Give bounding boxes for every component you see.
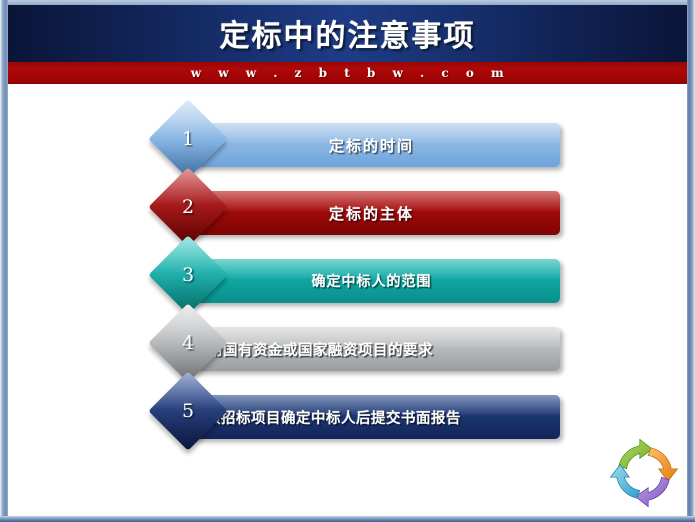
step-number-4: 4 bbox=[160, 315, 216, 371]
content-area: 定标的时间 1 定标的主体 2 确定中标人的范围 bbox=[8, 84, 687, 516]
list-item[interactable]: 必须招标项目确定中标人后提交书面报告 5 bbox=[8, 383, 687, 451]
step-number-3: 3 bbox=[160, 247, 216, 303]
step-label-5: 必须招标项目确定中标人后提交书面报告 bbox=[183, 395, 560, 439]
website-bar: w w w . z b t b w . c o m bbox=[8, 62, 687, 84]
step-label-1: 定标的时间 bbox=[183, 123, 560, 167]
step-bar-5[interactable]: 必须招标项目确定中标人后提交书面报告 bbox=[183, 395, 560, 439]
step-label-3: 确定中标人的范围 bbox=[183, 259, 560, 303]
step-bar-2[interactable]: 定标的主体 bbox=[183, 191, 560, 235]
step-label-2: 定标的主体 bbox=[183, 191, 560, 235]
recycle-cycle-logo bbox=[607, 438, 681, 508]
page-title: 定标中的注意事项 bbox=[8, 5, 687, 62]
list-item[interactable]: 使用国有资金或国家融资项目的要求 4 bbox=[8, 315, 687, 383]
step-bar-1[interactable]: 定标的时间 bbox=[183, 123, 560, 167]
frame-border-bottom bbox=[0, 516, 695, 522]
list-item[interactable]: 确定中标人的范围 3 bbox=[8, 247, 687, 315]
website-url: w w w . z b t b w . c o m bbox=[185, 66, 510, 80]
list-item[interactable]: 定标的时间 1 bbox=[8, 111, 687, 179]
step-bar-3[interactable]: 确定中标人的范围 bbox=[183, 259, 560, 303]
step-label-4: 使用国有资金或国家融资项目的要求 bbox=[183, 327, 560, 371]
frame-border-right bbox=[687, 0, 695, 522]
recycle-cycle-icon bbox=[607, 438, 681, 508]
step-number-2: 2 bbox=[160, 179, 216, 235]
frame-border-left bbox=[0, 0, 8, 522]
step-number-1: 1 bbox=[160, 111, 216, 167]
step-bar-4[interactable]: 使用国有资金或国家融资项目的要求 bbox=[183, 327, 560, 371]
step-number-5: 5 bbox=[160, 383, 216, 439]
slide-canvas: 定标中的注意事项 w w w . z b t b w . c o m 定标的时间… bbox=[0, 0, 695, 522]
slide-header: 定标中的注意事项 bbox=[8, 5, 687, 62]
list-item[interactable]: 定标的主体 2 bbox=[8, 179, 687, 247]
